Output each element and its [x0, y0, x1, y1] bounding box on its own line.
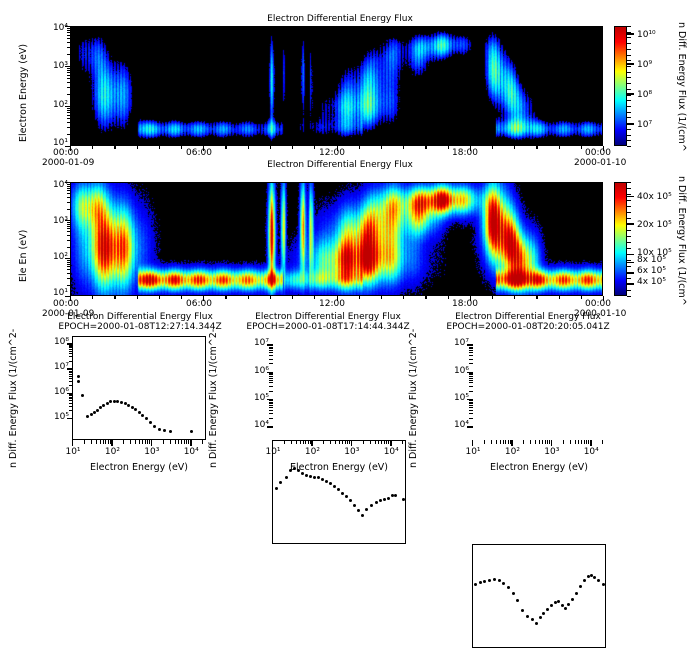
- y-minor-tick: [469, 391, 473, 392]
- x-minor-tick: [145, 440, 146, 444]
- cbar-minor-tick: [627, 146, 631, 147]
- x-minor-tick: [514, 146, 515, 149]
- y-minor-tick: [469, 382, 473, 383]
- x-minor-tick: [542, 440, 543, 444]
- cbar-minor-tick: [627, 224, 631, 225]
- data-point: [583, 579, 586, 582]
- y-minor-tick: [269, 363, 273, 364]
- x-major-tick: [190, 440, 191, 446]
- x-minor-tick: [188, 440, 189, 444]
- y-minor-tick: [469, 374, 473, 375]
- y-minor-tick: [69, 403, 73, 404]
- x-minor-tick: [123, 440, 124, 444]
- xtick-label: 10¹: [61, 447, 85, 457]
- y-minor-tick: [269, 352, 273, 353]
- x-minor-tick: [386, 440, 387, 444]
- y-major-tick: [67, 418, 73, 419]
- panel-top-ylabel: Electron Energy (eV): [18, 32, 29, 142]
- y-minor-tick: [67, 264, 71, 265]
- data-point: [564, 607, 567, 610]
- x-minor-tick: [578, 440, 579, 444]
- xtick-label: 10⁴: [179, 447, 203, 457]
- x-major-tick: [390, 440, 391, 446]
- x-minor-tick: [492, 296, 493, 299]
- x-minor-tick: [100, 440, 101, 444]
- cbar-tick-label: 10⁸: [637, 90, 652, 100]
- x-minor-tick: [535, 440, 536, 444]
- y-minor-tick: [69, 398, 73, 399]
- cbar-minor-tick: [627, 89, 631, 90]
- y-minor-tick: [69, 374, 73, 375]
- x-minor-tick: [588, 440, 589, 444]
- y-minor-tick: [67, 115, 71, 116]
- data-point: [86, 415, 89, 418]
- x-major-tick: [603, 296, 604, 301]
- x-minor-tick: [202, 440, 203, 444]
- y-minor-tick: [269, 350, 273, 351]
- xtick-label: 06:00: [186, 148, 212, 158]
- x-minor-tick: [378, 440, 379, 444]
- y-minor-tick: [69, 346, 73, 347]
- y-minor-tick: [469, 378, 473, 379]
- y-minor-tick: [469, 386, 473, 387]
- cbar-tick-label: 8x 10⁵: [637, 255, 666, 265]
- data-point: [309, 475, 312, 478]
- data-point: [361, 514, 364, 517]
- data-point: [597, 579, 600, 582]
- x-minor-tick: [147, 440, 148, 444]
- x-minor-tick: [248, 146, 249, 149]
- cbar-minor-tick: [627, 140, 631, 141]
- data-point: [557, 600, 560, 603]
- data-point: [391, 494, 394, 497]
- y-minor-tick: [469, 405, 473, 406]
- x-minor-tick: [105, 440, 106, 444]
- cbar-minor-tick: [627, 242, 631, 243]
- y-minor-tick: [67, 72, 71, 73]
- x-minor-tick: [402, 440, 403, 444]
- x-major-tick: [272, 440, 273, 446]
- y-minor-tick: [69, 351, 73, 352]
- data-point: [90, 413, 93, 416]
- ytick-label: 10⁷: [242, 338, 269, 348]
- spectrum-xlabel: Electron Energy (eV): [252, 462, 426, 473]
- y-minor-tick: [469, 373, 473, 374]
- data-point: [145, 417, 148, 420]
- data-point: [96, 409, 99, 412]
- x-minor-tick: [130, 440, 131, 444]
- cbar-minor-tick: [627, 230, 631, 231]
- y-minor-tick: [269, 348, 273, 349]
- y-minor-tick: [469, 359, 473, 360]
- cbar-minor-tick: [627, 260, 631, 261]
- y-minor-tick: [269, 373, 273, 374]
- x-major-tick: [311, 440, 312, 446]
- x-minor-tick: [384, 440, 385, 444]
- cbar-minor-tick: [627, 83, 631, 84]
- data-point: [333, 485, 336, 488]
- xtick-label: 00:00: [585, 148, 611, 158]
- y-minor-tick: [269, 386, 273, 387]
- spectrum-plot-area[interactable]: [472, 544, 606, 648]
- panel-top-colorbar[interactable]: [614, 26, 627, 146]
- data-point: [120, 401, 123, 404]
- cbar-tick-label: 10¹⁰: [637, 30, 656, 40]
- x-minor-tick: [300, 440, 301, 444]
- x-minor-tick: [91, 440, 92, 444]
- data-point: [575, 592, 578, 595]
- y-minor-tick: [269, 347, 273, 348]
- y-minor-tick: [69, 347, 73, 348]
- cbar-minor-tick: [627, 32, 631, 33]
- y-minor-tick: [67, 186, 71, 187]
- x-minor-tick: [292, 146, 293, 149]
- spectrum-xlabel: Electron Energy (eV): [452, 462, 626, 473]
- y-minor-tick: [269, 418, 273, 419]
- y-minor-tick: [269, 380, 273, 381]
- x-minor-tick: [291, 440, 292, 444]
- cbar-minor-tick: [627, 112, 631, 113]
- xtick-label: 00:00: [53, 148, 79, 158]
- cbar-tick-label: 10⁷: [637, 120, 652, 130]
- y-minor-tick: [69, 410, 73, 411]
- y-minor-tick: [469, 380, 473, 381]
- cbar-tick-label: 10⁹: [637, 60, 652, 70]
- data-point: [379, 499, 382, 502]
- cbar-minor-tick: [627, 200, 631, 201]
- panel-middle-ylabel: Ele En (eV): [18, 212, 29, 282]
- data-point: [502, 582, 505, 585]
- x-minor-tick: [545, 440, 546, 444]
- cbar-minor-tick: [627, 117, 631, 118]
- y-minor-tick: [469, 403, 473, 404]
- y-minor-tick: [69, 345, 73, 346]
- x-major-tick: [111, 440, 112, 446]
- cbar-minor-tick: [627, 296, 631, 297]
- panel-top-spectrogram[interactable]: [70, 26, 603, 146]
- x-major-tick: [70, 296, 71, 301]
- y-minor-tick: [67, 30, 71, 31]
- x-minor-tick: [108, 440, 109, 444]
- y-minor-tick: [67, 54, 71, 55]
- ytick-label: 10²: [53, 100, 68, 110]
- panel-middle-title: Electron Differential Energy Flux: [160, 160, 520, 170]
- x-minor-tick: [425, 296, 426, 299]
- cbar-minor-tick: [627, 272, 631, 273]
- cbar-minor-tick: [627, 248, 631, 249]
- x-minor-tick: [248, 296, 249, 299]
- cbar-minor-tick: [627, 236, 631, 237]
- x-minor-tick: [305, 440, 306, 444]
- cbar-minor-tick: [627, 123, 631, 124]
- y-minor-tick: [67, 193, 71, 194]
- xtick-label: 10¹: [261, 447, 285, 457]
- x-minor-tick: [602, 440, 603, 444]
- y-minor-tick: [469, 407, 473, 408]
- ytick-label: 10⁸: [42, 337, 69, 347]
- y-minor-tick: [67, 278, 71, 279]
- y-minor-tick: [67, 224, 71, 225]
- y-minor-tick: [69, 385, 73, 386]
- cbar-minor-tick: [627, 72, 631, 73]
- x-major-tick: [470, 146, 471, 151]
- cbar-minor-tick: [627, 266, 631, 267]
- x-minor-tick: [163, 440, 164, 444]
- cbar-minor-tick: [627, 43, 631, 44]
- ytick-label: 10⁴: [242, 420, 269, 430]
- data-point: [337, 488, 340, 491]
- x-major-tick: [337, 146, 338, 151]
- x-minor-tick: [308, 440, 309, 444]
- xtick-label: 10²: [500, 447, 524, 457]
- spectrum-plot-area[interactable]: [72, 336, 206, 440]
- data-point: [561, 604, 564, 607]
- cbar-minor-tick: [627, 77, 631, 78]
- xtick-label: 10¹: [461, 447, 485, 457]
- panel-middle-spectrogram[interactable]: [70, 182, 603, 296]
- data-point: [77, 380, 80, 383]
- y-minor-tick: [269, 410, 273, 411]
- ytick-label: 10⁶: [42, 387, 69, 397]
- spectrum-epoch-label: EPOCH=2000-01-08T20:20:05.041Z: [428, 322, 628, 332]
- x-minor-tick: [225, 146, 226, 149]
- y-minor-tick: [67, 47, 71, 48]
- ytick-label: 10⁷: [442, 338, 469, 348]
- cbar-tick-label: 40x 10⁵: [637, 192, 672, 202]
- x-minor-tick: [284, 440, 285, 444]
- data-point: [109, 400, 112, 403]
- x-major-tick: [72, 440, 73, 446]
- y-minor-tick: [67, 38, 71, 39]
- xtick-label: 00:00: [585, 299, 611, 309]
- y-minor-tick: [69, 372, 73, 373]
- x-minor-tick: [303, 440, 304, 444]
- y-minor-tick: [469, 345, 473, 346]
- x-minor-tick: [181, 146, 182, 149]
- y-major-tick: [267, 426, 273, 427]
- cbar-tick-label: 6x 10⁵: [637, 266, 666, 276]
- panel-top-yticks: 10⁴ 10³ 10² 10¹: [34, 28, 70, 144]
- data-point: [285, 476, 288, 479]
- x-minor-tick: [96, 440, 97, 444]
- data-point: [387, 497, 390, 500]
- x-minor-tick: [225, 296, 226, 299]
- data-point: [153, 425, 156, 428]
- ytick-label: 10⁴: [442, 420, 469, 430]
- x-minor-tick: [342, 440, 343, 444]
- y-minor-tick: [67, 202, 71, 203]
- ytick-label: 10²: [53, 252, 68, 262]
- y-minor-tick: [69, 394, 73, 395]
- y-minor-tick: [69, 371, 73, 372]
- panel-middle-colorbar-ticks: [627, 182, 637, 296]
- x-minor-tick: [530, 440, 531, 444]
- x-minor-tick: [375, 440, 376, 444]
- panel-top-colorbar-label: n Diff. Energy Flux (1/(cm^: [676, 22, 687, 162]
- y-minor-tick: [69, 369, 73, 370]
- y-minor-tick: [469, 352, 473, 353]
- y-minor-tick: [67, 269, 71, 270]
- x-minor-tick: [310, 440, 311, 444]
- y-minor-tick: [67, 247, 71, 248]
- y-minor-tick: [469, 413, 473, 414]
- cbar-minor-tick: [627, 135, 631, 136]
- data-point: [602, 583, 605, 586]
- y-minor-tick: [67, 78, 71, 79]
- x-minor-tick: [159, 146, 160, 149]
- data-point: [279, 481, 282, 484]
- x-minor-tick: [523, 440, 524, 444]
- x-minor-tick: [330, 440, 331, 444]
- x-minor-tick: [492, 146, 493, 149]
- data-point: [163, 429, 166, 432]
- x-minor-tick: [359, 146, 360, 149]
- ytick-label: 10⁵: [242, 393, 269, 403]
- data-point: [375, 501, 378, 504]
- data-point: [571, 598, 574, 601]
- x-major-tick: [590, 440, 591, 446]
- y-minor-tick: [67, 127, 71, 128]
- cbar-minor-tick: [627, 254, 631, 255]
- y-minor-tick: [269, 376, 273, 377]
- data-point: [190, 430, 193, 433]
- x-minor-tick: [159, 296, 160, 299]
- y-minor-tick: [67, 112, 71, 113]
- y-minor-tick: [269, 405, 273, 406]
- x-major-tick: [70, 146, 71, 151]
- data-point: [531, 618, 534, 621]
- data-point: [313, 476, 316, 479]
- data-point: [169, 430, 172, 433]
- y-minor-tick: [67, 70, 71, 71]
- cbar-minor-tick: [627, 284, 631, 285]
- data-point: [479, 581, 482, 584]
- data-point: [131, 406, 134, 409]
- y-minor-tick: [69, 406, 73, 407]
- data-point: [365, 508, 368, 511]
- cbar-major-tick: [627, 196, 634, 198]
- y-minor-tick: [269, 400, 273, 401]
- cbar-minor-tick: [627, 278, 631, 279]
- x-minor-tick: [581, 146, 582, 149]
- cbar-minor-tick: [627, 194, 631, 195]
- y-minor-tick: [67, 222, 71, 223]
- x-minor-tick: [559, 296, 560, 299]
- cbar-minor-tick: [627, 290, 631, 291]
- y-minor-tick: [269, 345, 273, 346]
- y-minor-tick: [67, 184, 71, 185]
- ytick-label: 10⁷: [42, 362, 69, 372]
- x-minor-tick: [370, 440, 371, 444]
- x-minor-tick: [84, 440, 85, 444]
- y-minor-tick: [67, 110, 71, 111]
- panel-middle-colorbar[interactable]: [614, 182, 627, 296]
- y-minor-tick: [67, 285, 71, 286]
- y-minor-tick: [67, 35, 71, 36]
- y-minor-tick: [469, 400, 473, 401]
- data-point: [325, 480, 328, 483]
- data-point: [141, 414, 144, 417]
- x-minor-tick: [139, 440, 140, 444]
- panel-middle-colorbar-label: n Diff. Energy Flux (1/(cm^: [676, 176, 687, 316]
- cbar-minor-tick: [627, 129, 631, 130]
- x-major-tick: [472, 440, 473, 446]
- data-point: [546, 608, 549, 611]
- y-minor-tick: [269, 378, 273, 379]
- data-point: [124, 402, 127, 405]
- xtick-label: 10⁴: [579, 447, 603, 457]
- y-minor-tick: [69, 395, 73, 396]
- data-point: [370, 504, 373, 507]
- x-minor-tick: [314, 296, 315, 299]
- x-major-tick: [151, 440, 152, 446]
- x-minor-tick: [181, 296, 182, 299]
- data-point: [81, 394, 84, 397]
- xtick-label: 10⁴: [379, 447, 403, 457]
- cbar-minor-tick: [627, 218, 631, 219]
- data-point: [353, 504, 356, 507]
- y-minor-tick: [67, 134, 71, 135]
- y-minor-tick: [69, 378, 73, 379]
- y-minor-tick: [67, 228, 71, 229]
- x-minor-tick: [110, 440, 111, 444]
- y-minor-tick: [469, 350, 473, 351]
- cbar-minor-tick: [627, 188, 631, 189]
- x-minor-tick: [103, 440, 104, 444]
- spectrum-ylabel: n Diff. Energy Flux (1/(cm^2-: [208, 308, 219, 468]
- x-minor-tick: [563, 440, 564, 444]
- cbar-minor-tick: [627, 106, 631, 107]
- x-minor-tick: [536, 296, 537, 299]
- cbar-minor-tick: [627, 49, 631, 50]
- cbar-minor-tick: [627, 55, 631, 56]
- y-minor-tick: [269, 374, 273, 375]
- x-minor-tick: [496, 440, 497, 444]
- data-point: [402, 498, 405, 501]
- xtick-label: 10²: [300, 447, 324, 457]
- cbar-minor-tick: [627, 100, 631, 101]
- data-point: [116, 400, 119, 403]
- y-minor-tick: [67, 75, 71, 76]
- y-minor-tick: [469, 363, 473, 364]
- xtick-label: 10³: [540, 447, 564, 457]
- y-minor-tick: [469, 410, 473, 411]
- cbar-minor-tick: [627, 66, 631, 67]
- data-point: [127, 404, 130, 407]
- data-point: [507, 586, 510, 589]
- x-minor-tick: [296, 440, 297, 444]
- ytick-label: 10⁴: [53, 23, 68, 33]
- y-minor-tick: [269, 355, 273, 356]
- xtick-label: 00:00: [53, 299, 79, 309]
- x-minor-tick: [175, 440, 176, 444]
- cbar-minor-tick: [627, 206, 631, 207]
- x-minor-tick: [135, 440, 136, 444]
- data-point: [516, 599, 519, 602]
- y-minor-tick: [69, 376, 73, 377]
- spectrum-epoch-label: EPOCH=2000-01-08T17:14:44.344Z: [228, 322, 428, 332]
- data-point: [383, 498, 386, 501]
- y-minor-tick: [67, 82, 71, 83]
- data-point: [317, 476, 320, 479]
- y-minor-tick: [67, 226, 71, 227]
- y-minor-tick: [67, 94, 71, 95]
- x-major-tick: [470, 296, 471, 301]
- data-point: [357, 509, 360, 512]
- x-minor-tick: [137, 146, 138, 149]
- x-minor-tick: [559, 146, 560, 149]
- y-minor-tick: [67, 32, 71, 33]
